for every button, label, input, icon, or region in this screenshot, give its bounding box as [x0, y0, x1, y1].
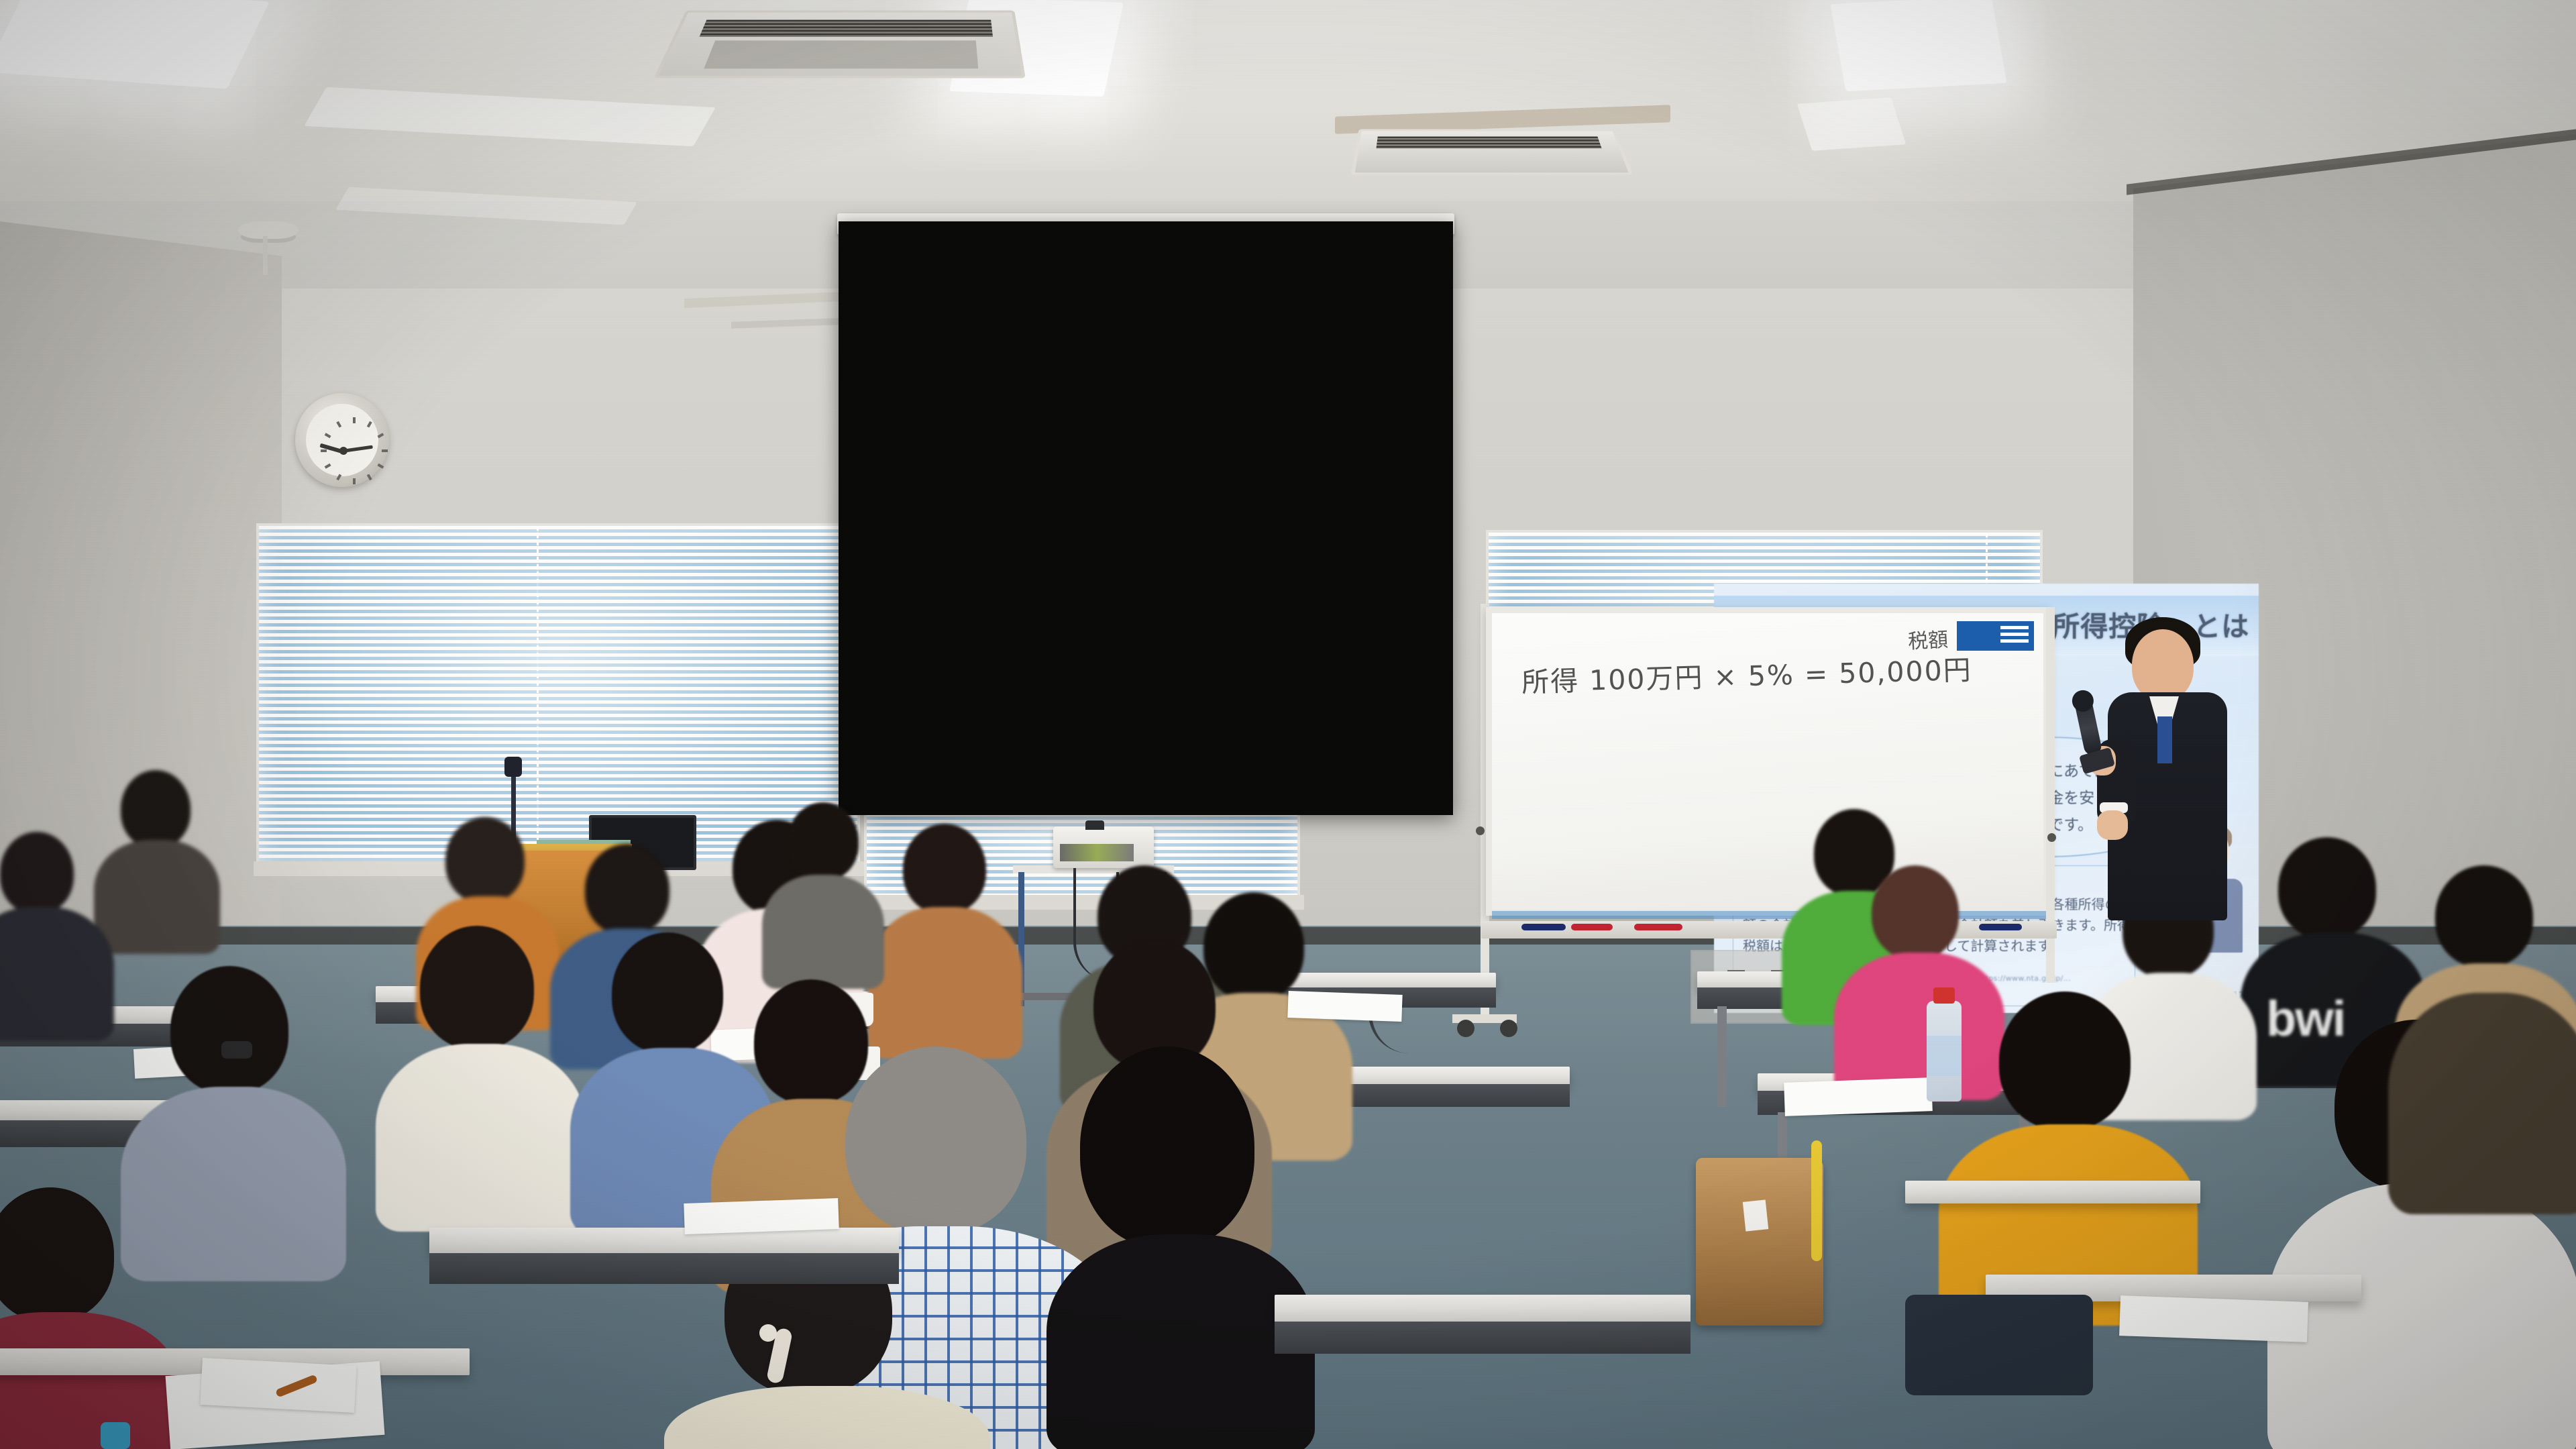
- desk-front-panel: [1315, 1084, 1570, 1107]
- person-head: [1999, 991, 2131, 1130]
- audience-member: [1033, 1046, 1315, 1449]
- audience-member: [376, 926, 584, 1194]
- audience-member: [765, 802, 879, 977]
- desk: [429, 1228, 899, 1254]
- desk: [1275, 1295, 1690, 1323]
- presenter-head: [2132, 629, 2194, 700]
- handout-paper: [684, 1198, 839, 1234]
- blind-cord[interactable]: [537, 527, 539, 863]
- blue-item: [101, 1422, 130, 1449]
- handout-paper: [2119, 1295, 2308, 1342]
- bag-strap: [1811, 1140, 1822, 1261]
- clock-tick: [378, 433, 384, 438]
- person-head: [1080, 1046, 1254, 1248]
- clock-tick: [353, 478, 356, 484]
- ceiling-light-fixture: [0, 0, 270, 89]
- eyeglasses-icon: [221, 1041, 252, 1059]
- whiteboard-height-knob[interactable]: [2047, 833, 2056, 842]
- microphone-icon: [504, 757, 522, 777]
- person-head: [420, 926, 534, 1049]
- presenter-tie: [2157, 716, 2172, 763]
- clock-tick: [382, 449, 388, 452]
- tote-bag: [1696, 1158, 1823, 1326]
- ceiling-light-fixture: [1831, 0, 2007, 91]
- clock-face: [306, 404, 378, 476]
- desk-leg: [1717, 1006, 1727, 1107]
- person-torso: [664, 1386, 990, 1449]
- whiteboard-height-knob[interactable]: [1476, 826, 1485, 835]
- person-head: [2278, 837, 2376, 939]
- person-torso: [94, 840, 220, 954]
- smoke-detector-icon: [238, 221, 299, 239]
- person-torso: [2388, 993, 2576, 1214]
- person-head: [445, 817, 525, 903]
- whiteboard-marker[interactable]: [1634, 924, 1682, 930]
- person-head: [788, 802, 859, 880]
- clock-tick: [367, 421, 372, 428]
- whiteboard-caster: [1457, 1020, 1474, 1037]
- presenter-hand: [2097, 810, 2128, 840]
- person-head: [845, 1046, 1026, 1234]
- audience-member: [1939, 991, 2194, 1293]
- person-head: [0, 1187, 114, 1322]
- person-torso: [0, 1312, 178, 1449]
- desk: [1905, 1181, 2200, 1203]
- desk-front-panel: [429, 1253, 899, 1284]
- ac-panel: [704, 40, 978, 68]
- clock-center-pin: [339, 447, 347, 455]
- projector-front-panel: [1060, 844, 1134, 861]
- ac-vent: [1376, 137, 1601, 149]
- person-torso: [2267, 1183, 2576, 1449]
- audience-member: [0, 1187, 174, 1449]
- wall-clock: [295, 393, 389, 487]
- seminar-room-photo: iDeCo最大のメリット 「所得控除」とは 所得控除って何？ 簡単に言うと、要件…: [0, 0, 2576, 1449]
- person-head: [585, 844, 669, 935]
- air-conditioner-icon: [653, 11, 1025, 78]
- projector: [1053, 826, 1154, 868]
- clock-tick: [321, 449, 327, 452]
- whiteboard-sticker: [1957, 621, 2034, 651]
- clock-tick: [336, 474, 341, 481]
- audience-member: [0, 832, 107, 1020]
- smoke-detector-stem: [263, 236, 268, 275]
- person-torso: [762, 875, 884, 989]
- handout-paper: [1287, 991, 1402, 1022]
- clock-tick: [325, 433, 331, 438]
- person-head: [612, 932, 723, 1053]
- bag-tag: [1743, 1199, 1768, 1231]
- person-head: [0, 832, 74, 914]
- whiteboard-caster: [1500, 1020, 1517, 1037]
- person-head: [903, 824, 986, 914]
- handout-paper: [1784, 1077, 1933, 1116]
- hair-clip-pearl: [759, 1324, 777, 1342]
- presenter: [2093, 617, 2247, 919]
- projector-lens-icon: [1085, 820, 1104, 830]
- jacket-on-chair: [1905, 1295, 2093, 1395]
- clock-tick: [353, 417, 356, 423]
- person-torso: [0, 907, 114, 1041]
- ceiling-light-reflection: [1797, 97, 1907, 151]
- desk-front-panel: [1275, 1322, 1690, 1354]
- ac-vent: [699, 20, 993, 37]
- whiteboard-marker[interactable]: [1571, 924, 1613, 930]
- person-head: [170, 966, 288, 1093]
- clock-tick: [336, 421, 341, 428]
- audience-member: [94, 770, 215, 945]
- person-head: [1872, 865, 1959, 959]
- handout-paper: [200, 1358, 356, 1413]
- person-head: [121, 770, 191, 848]
- clock-tick: [325, 464, 331, 469]
- audience-member: [2388, 953, 2576, 1207]
- projection-screen: iDeCo最大のメリット 「所得控除」とは 所得控除って何？ 簡単に言うと、要件…: [839, 221, 1453, 815]
- person-torso: [376, 1044, 586, 1232]
- whiteboard-marker[interactable]: [1521, 924, 1566, 930]
- air-conditioner-icon: [1351, 129, 1633, 175]
- desk: [1315, 1067, 1570, 1085]
